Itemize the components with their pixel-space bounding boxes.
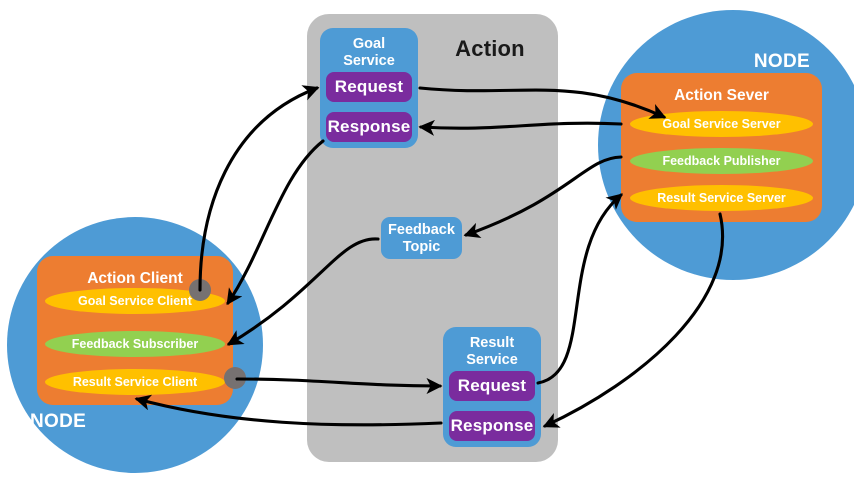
result-service-title-line2: Service	[443, 352, 541, 369]
diagram-canvas: Action Action Sever Goal Service Server …	[0, 0, 854, 480]
action-server-title: Action Sever	[621, 87, 822, 105]
result-service-request-button[interactable]: Request	[449, 371, 535, 401]
goal-service-title-line2: Service	[320, 53, 418, 70]
result-service-title-line1: Result	[443, 335, 541, 352]
node-label-client: NODE	[30, 411, 140, 433]
pill-result-service-server[interactable]: Result Service Server	[630, 185, 813, 211]
feedback-topic-title-line1: Feedback	[381, 222, 462, 239]
pill-goal-service-server[interactable]: Goal Service Server	[630, 111, 813, 137]
feedback-topic-title-line2: Topic	[381, 239, 462, 256]
goal-service-request-button[interactable]: Request	[326, 72, 412, 102]
pill-feedback-subscriber[interactable]: Feedback Subscriber	[45, 331, 225, 357]
goal-service-title-line1: Goal	[320, 36, 418, 53]
pill-result-service-client[interactable]: Result Service Client	[45, 369, 225, 395]
goal-service-response-button[interactable]: Response	[326, 112, 412, 142]
node-label-server: NODE	[700, 51, 810, 73]
action-panel-title: Action	[430, 36, 550, 62]
result-service-response-button[interactable]: Response	[449, 411, 535, 441]
feedback-topic-box[interactable]: Feedback Topic	[381, 217, 462, 259]
connector-dot-goal-client	[189, 279, 211, 301]
pill-feedback-publisher[interactable]: Feedback Publisher	[630, 148, 813, 174]
shapes-layer: Action Action Sever Goal Service Server …	[0, 0, 854, 480]
connector-dot-result-client	[224, 367, 246, 389]
